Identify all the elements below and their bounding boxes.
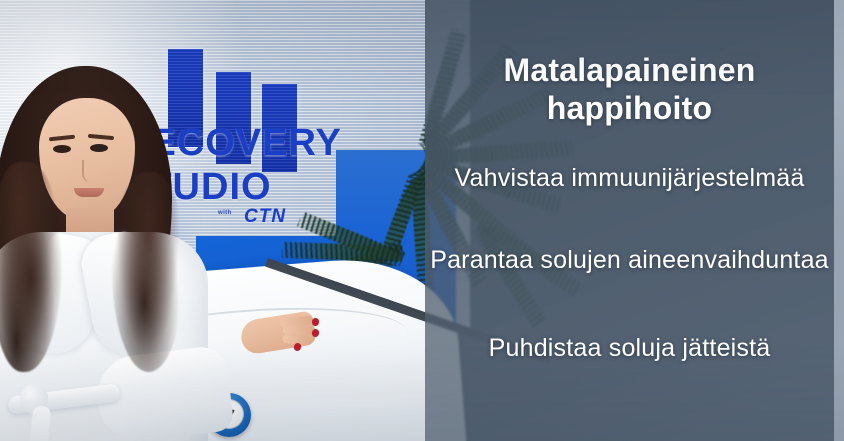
mouth: [74, 188, 104, 197]
benefit-item-1: Vahvistaa immuunijärjestelmää: [455, 163, 805, 193]
benefit-item-3: Puhdistaa soluja jätteistä: [489, 333, 771, 363]
benefit-item-2: Parantaa solujen aineenvaihduntaa: [430, 245, 829, 275]
nose: [82, 160, 93, 182]
logo-partner-ctn: CTN: [244, 206, 286, 228]
eye-left: [53, 145, 71, 153]
marketing-copy: Matalapaineinen happihoito Vahvistaa imm…: [425, 0, 834, 441]
hair-curls-right: [112, 172, 184, 372]
eye-right: [90, 144, 108, 152]
person-in-robe: [0, 52, 205, 441]
logo-partner-prefix: with: [218, 210, 232, 216]
headline: Matalapaineinen happihoito: [425, 52, 834, 128]
right-edge-strip: [834, 0, 844, 441]
promo-frame: RECOVERY STUDIO with CTN: [0, 0, 844, 441]
